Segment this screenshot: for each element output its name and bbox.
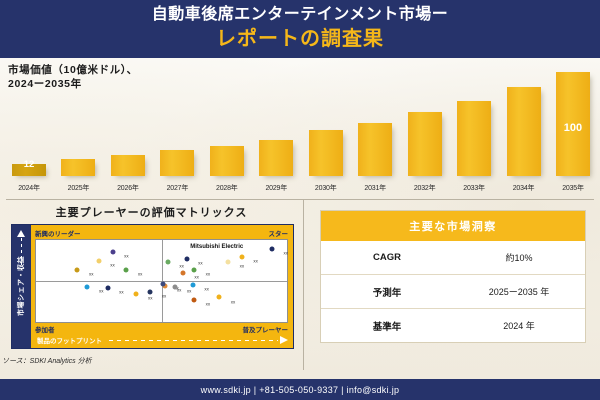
bar-slot: 2025年 [59, 58, 97, 176]
matrix-point-label: xx [110, 263, 115, 268]
market-value-bar-chart: 市場価値（10億米ドル）、 2024ー2035年 122024年2025年202… [0, 58, 600, 195]
bar-slot: 2031年 [356, 58, 394, 176]
header-title-line1: 自動車後席エンターテインメント市場ー [0, 0, 600, 23]
matrix-data-point [239, 254, 244, 259]
bar-slot: 2026年 [109, 58, 147, 176]
x-axis-tick-label: 2024年 [18, 183, 40, 193]
arrow-up-icon [17, 230, 25, 237]
matrix-x-axis-label: 製品のフットプリント [37, 335, 102, 345]
insight-value: 2024 年 [453, 319, 585, 332]
matrix-x-axis: 製品のフットプリント [35, 333, 288, 345]
insight-value: 約10% [453, 251, 585, 264]
matrix-data-point [160, 282, 165, 287]
bar-slot: 2030年 [307, 58, 345, 176]
matrix-highlight-label: Mitsubishi Electric [190, 244, 243, 250]
insight-key: CAGR [321, 252, 453, 263]
insight-value: 2025ー2035 年 [453, 285, 585, 298]
matrix-point-label: xx [179, 264, 184, 269]
matrix-point-label: xx [138, 272, 143, 277]
matrix-data-point [105, 286, 110, 291]
matrix-point-label: xx [253, 258, 258, 263]
matrix-point-label: xx [198, 261, 203, 266]
matrix-point-label: xx [194, 274, 199, 279]
matrix-data-point [173, 285, 178, 290]
x-axis-tick-label: 2027年 [167, 183, 189, 193]
footer-bar: www.sdki.jp | +81-505-050-9337 | info@sd… [0, 379, 600, 400]
matrix-point-label: xx [206, 272, 211, 277]
x-axis-tick-label: 2026年 [117, 183, 139, 193]
matrix-point-label: xx [119, 290, 124, 295]
matrix-data-point [165, 260, 170, 265]
matrix-data-point [75, 267, 80, 272]
bar-slot: 2029年 [257, 58, 295, 176]
x-axis-tick-label: 2029年 [265, 183, 287, 193]
bar-slot: 2028年 [208, 58, 246, 176]
matrix-y-axis: 市場シェア・収益 [12, 225, 31, 348]
x-axis-tick-label: 2033年 [463, 183, 485, 193]
matrix-point-label: xx [204, 287, 209, 292]
matrix-point-label: xx [124, 254, 129, 259]
bar-slot: 2034年 [505, 58, 543, 176]
matrix-data-point [184, 257, 189, 262]
lower-section: 主要プレーヤーの評価マトリックス 市場シェア・収益 新興のリーダー スター 参加… [0, 196, 600, 379]
bar-2032年 [408, 112, 442, 176]
x-axis-tick-label: 2030年 [315, 183, 337, 193]
matrix-point-label: xx [231, 299, 236, 304]
matrix-data-point [217, 295, 222, 300]
matrix-title: 主要プレーヤーの評価マトリックス [0, 204, 303, 220]
bar-2035年: 100 [556, 72, 590, 176]
bar-2025年 [61, 159, 95, 176]
bar-slot: 2032年 [406, 58, 444, 176]
key-insights-rows: CAGR約10%予測年2025ー2035 年基準年2024 年 [321, 241, 585, 342]
bar-2026年 [111, 155, 145, 176]
matrix-data-point [148, 290, 153, 295]
matrix-point-label: xx [206, 301, 211, 306]
key-insights-panel: 主要な市場洞察 CAGR約10%予測年2025ー2035 年基準年2024 年 [304, 196, 600, 379]
matrix-y-axis-label: 市場シェア・収益 [16, 244, 26, 328]
matrix-data-point [134, 292, 139, 297]
matrix-point-label: xx [99, 289, 104, 294]
bar-2034年 [507, 87, 541, 176]
quadrant-label-stars: スター [269, 228, 289, 238]
header-banner: 自動車後席エンターテインメント市場ー レポートの調査果 [0, 0, 600, 58]
x-axis-dashes [109, 340, 278, 341]
bar-slot: 1002035年 [554, 58, 592, 176]
x-axis-tick-label: 2025年 [68, 183, 90, 193]
bar-series: 122024年2025年2026年2027年2028年2029年2030年203… [10, 58, 592, 176]
bar-slot: 2033年 [455, 58, 493, 176]
matrix-inner: 新興のリーダー スター 参加者 普及プレーヤー Mitsubishi Elect… [31, 225, 293, 348]
matrix-data-point [85, 285, 90, 290]
bar-2033年 [457, 101, 491, 176]
matrix-data-point [226, 259, 231, 264]
bar-2028年 [210, 146, 244, 176]
x-axis-tick-label: 2031年 [364, 183, 386, 193]
matrix-data-point [110, 250, 115, 255]
matrix-data-point [124, 267, 129, 272]
bar-2031年 [358, 123, 392, 176]
matrix-point-label: xx [240, 263, 245, 268]
matrix-data-point [192, 297, 197, 302]
matrix-data-point [192, 268, 197, 273]
matrix-point-label: xx [148, 296, 153, 301]
matrix-plot-area: Mitsubishi Electric xxxxxxxxxxxxxxxxxxxx… [35, 239, 288, 323]
footer-contact-text: www.sdki.jp | +81-505-050-9337 | info@sd… [201, 385, 400, 395]
matrix-point-label: xx [162, 294, 167, 299]
insight-row: CAGR約10% [321, 241, 585, 274]
x-axis-tick-label: 2034年 [513, 183, 535, 193]
arrow-right-icon [280, 336, 288, 344]
matrix-data-point [269, 247, 274, 252]
bar-value-label: 12 [12, 159, 46, 170]
matrix-point-label: xx [187, 289, 192, 294]
matrix-point-label: xx [89, 271, 94, 276]
header-title-line2: レポートの調査果 [0, 23, 600, 49]
insight-row: 基準年2024 年 [321, 308, 585, 342]
key-insights-header: 主要な市場洞察 [321, 211, 585, 241]
x-axis-tick-label: 2035年 [562, 183, 584, 193]
bar-2030年 [309, 130, 343, 176]
bar-2024年: 12 [12, 164, 46, 176]
matrix-data-point [180, 270, 185, 275]
matrix-point-label: xx [283, 251, 288, 256]
quadrant-label-emerging-leaders: 新興のリーダー [35, 228, 81, 238]
insight-key: 予測年 [321, 285, 453, 299]
x-axis-tick-label: 2032年 [414, 183, 436, 193]
bar-value-label: 100 [556, 122, 590, 134]
x-axis-tick-label: 2028年 [216, 183, 238, 193]
insight-row: 予測年2025ー2035 年 [321, 274, 585, 308]
matrix-data-point [190, 283, 195, 288]
evaluation-matrix-panel: 主要プレーヤーの評価マトリックス 市場シェア・収益 新興のリーダー スター 参加… [0, 196, 303, 379]
bar-slot: 122024年 [10, 58, 48, 176]
bar-2029年 [259, 140, 293, 176]
infographic-page: 自動車後席エンターテインメント市場ー レポートの調査果 市場価値（10億米ドル）… [0, 0, 600, 400]
bar-2027年 [160, 150, 194, 176]
key-insights-table: 主要な市場洞察 CAGR約10%予測年2025ー2035 年基準年2024 年 [320, 210, 586, 343]
matrix-data-point [96, 258, 101, 263]
bar-slot: 2027年 [158, 58, 196, 176]
insight-key: 基準年 [321, 319, 453, 333]
matrix-frame: 市場シェア・収益 新興のリーダー スター 参加者 普及プレーヤー Mitsubi… [11, 224, 294, 349]
matrix-source-note: ソース：SDKI Analytics 分析 [2, 356, 92, 366]
